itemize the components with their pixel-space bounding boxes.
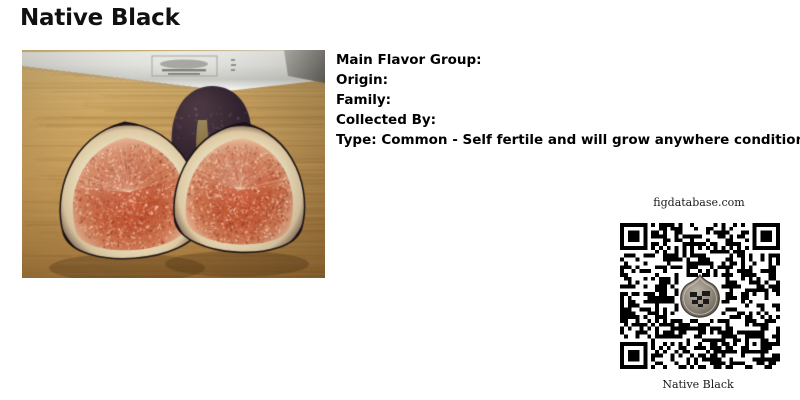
qr-site-label: figdatabase.com: [598, 196, 800, 210]
qr-block: figdatabase.com Native Black: [600, 196, 800, 392]
fig-photo-canvas: [22, 50, 325, 278]
detail-collected-by: Collected By:: [336, 110, 800, 130]
detail-main-flavor-group: Main Flavor Group:: [336, 50, 800, 70]
detail-origin: Origin:: [336, 70, 800, 90]
fig-detail-list: Main Flavor Group: Origin: Family: Colle…: [336, 50, 800, 150]
fig-logo-icon: [679, 273, 721, 319]
qr-name-label: Native Black: [596, 378, 800, 392]
detail-type: Type: Common - Self fertile and will gro…: [336, 130, 800, 150]
page-title: Native Black: [20, 5, 180, 31]
fig-photo: [22, 50, 325, 278]
detail-family: Family:: [336, 90, 800, 110]
qr-code[interactable]: [620, 223, 780, 369]
